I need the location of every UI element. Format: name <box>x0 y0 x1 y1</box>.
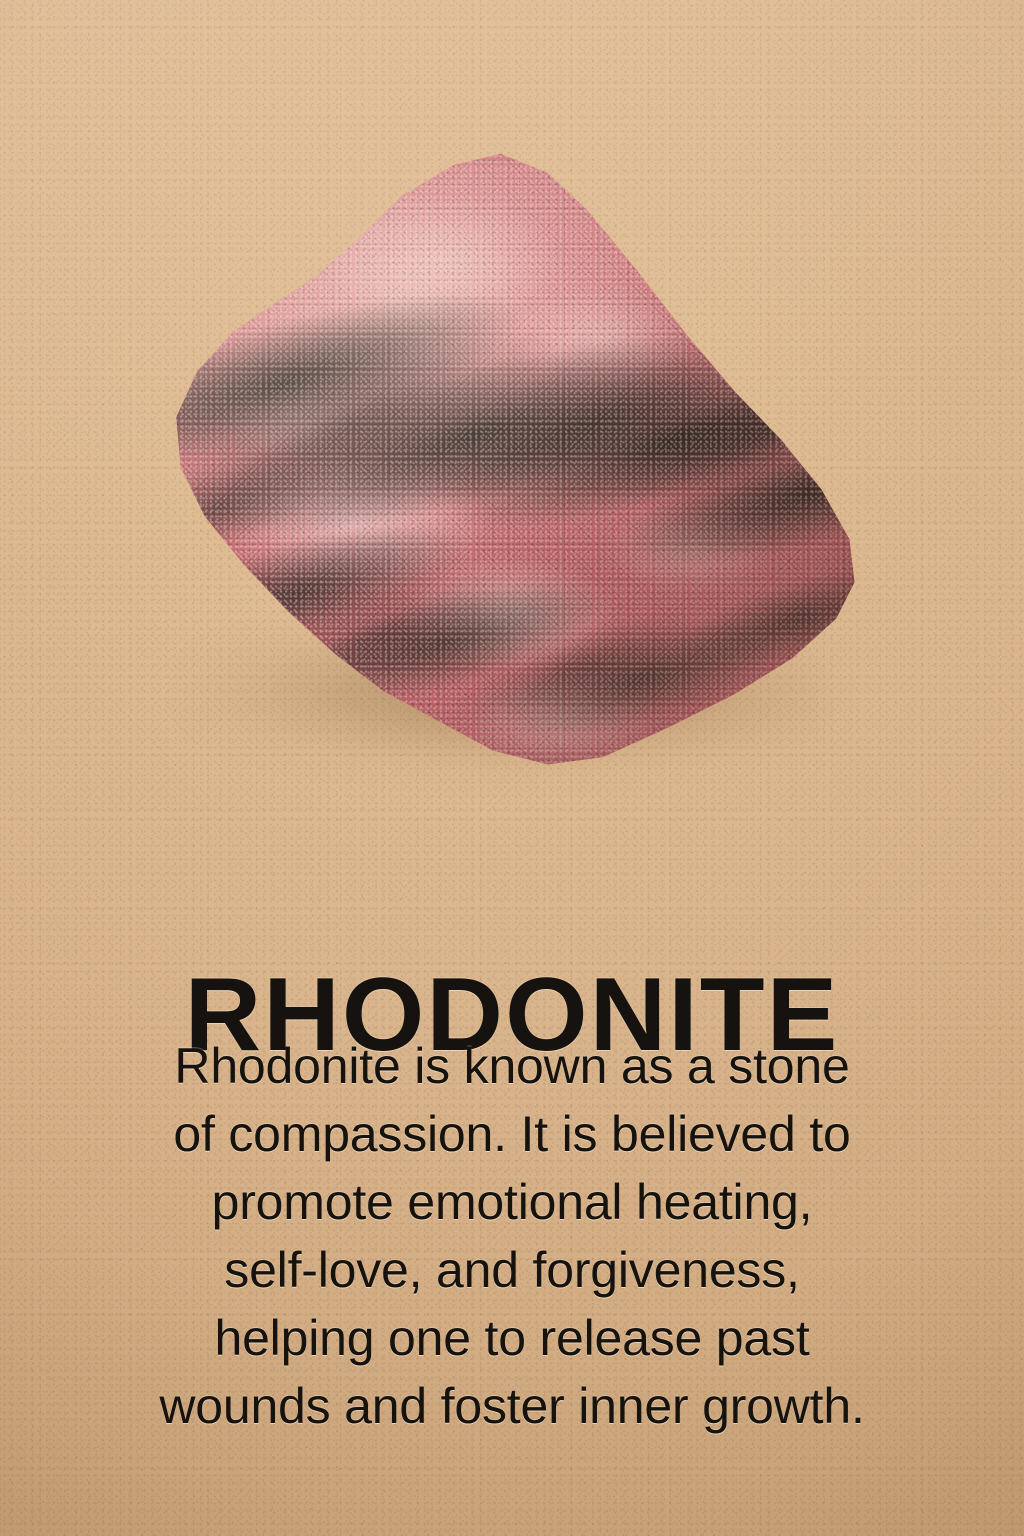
specimen-photo <box>150 140 880 800</box>
description-line: wounds and foster inner growth. <box>0 1372 1024 1440</box>
description-text: Rhodonite is known as a stone of compass… <box>0 1032 1024 1440</box>
description-line: promote emotional heating, <box>0 1168 1024 1236</box>
description-line: helping one to release past <box>0 1304 1024 1372</box>
description-line: of compassion. It is believed to <box>0 1100 1024 1168</box>
rhodonite-card: RHODONITE Rhodonite is known as a stone … <box>0 0 1024 1536</box>
description-line: Rhodonite is known as a stone <box>0 1032 1024 1100</box>
description-line: self-love, and forgiveness, <box>0 1236 1024 1304</box>
